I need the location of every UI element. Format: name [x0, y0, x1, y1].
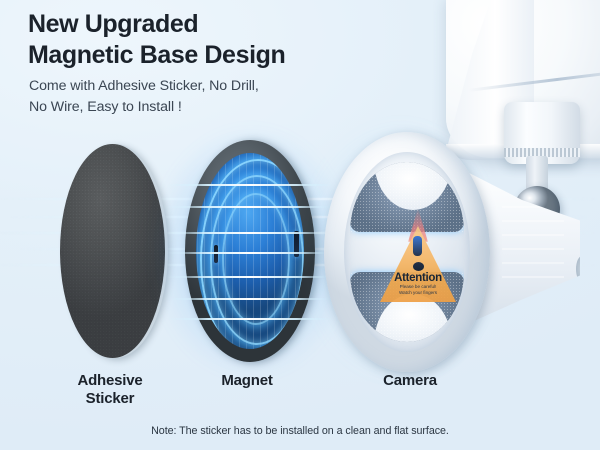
attention-subtext: Please be careful! Watch your fingers [382, 284, 454, 296]
magnet-disc [185, 140, 315, 362]
part-label-adhesive-sticker: Adhesive Sticker [40, 372, 180, 408]
camera-base-inner: Attention Please be careful! Watch your … [344, 152, 470, 352]
page-subtitle: Come with Adhesive Sticker, No Drill, No… [29, 76, 259, 119]
pad-top-inner-cut [374, 158, 452, 210]
part-label-camera: Camera [330, 372, 490, 390]
camera-assembly: Attention Please be careful! Watch your … [318, 126, 600, 376]
product-marketing-image: New Upgraded Magnetic Base Design Come w… [0, 0, 600, 450]
part-label-magnet: Magnet [182, 372, 312, 390]
installation-note: Note: The sticker has to be installed on… [0, 425, 600, 437]
camera-body-port [576, 256, 588, 282]
attention-exclamation-bar [413, 236, 422, 256]
attention-exclamation-dot [413, 262, 424, 271]
page-title: New Upgraded Magnetic Base Design [28, 9, 285, 70]
camera-magnetic-base: Attention Please be careful! Watch your … [324, 132, 490, 372]
attention-warning-sticker: Attention Please be careful! Watch your … [380, 214, 456, 302]
attention-title: Attention [380, 272, 456, 284]
adhesive-sticker-disc [60, 144, 165, 358]
